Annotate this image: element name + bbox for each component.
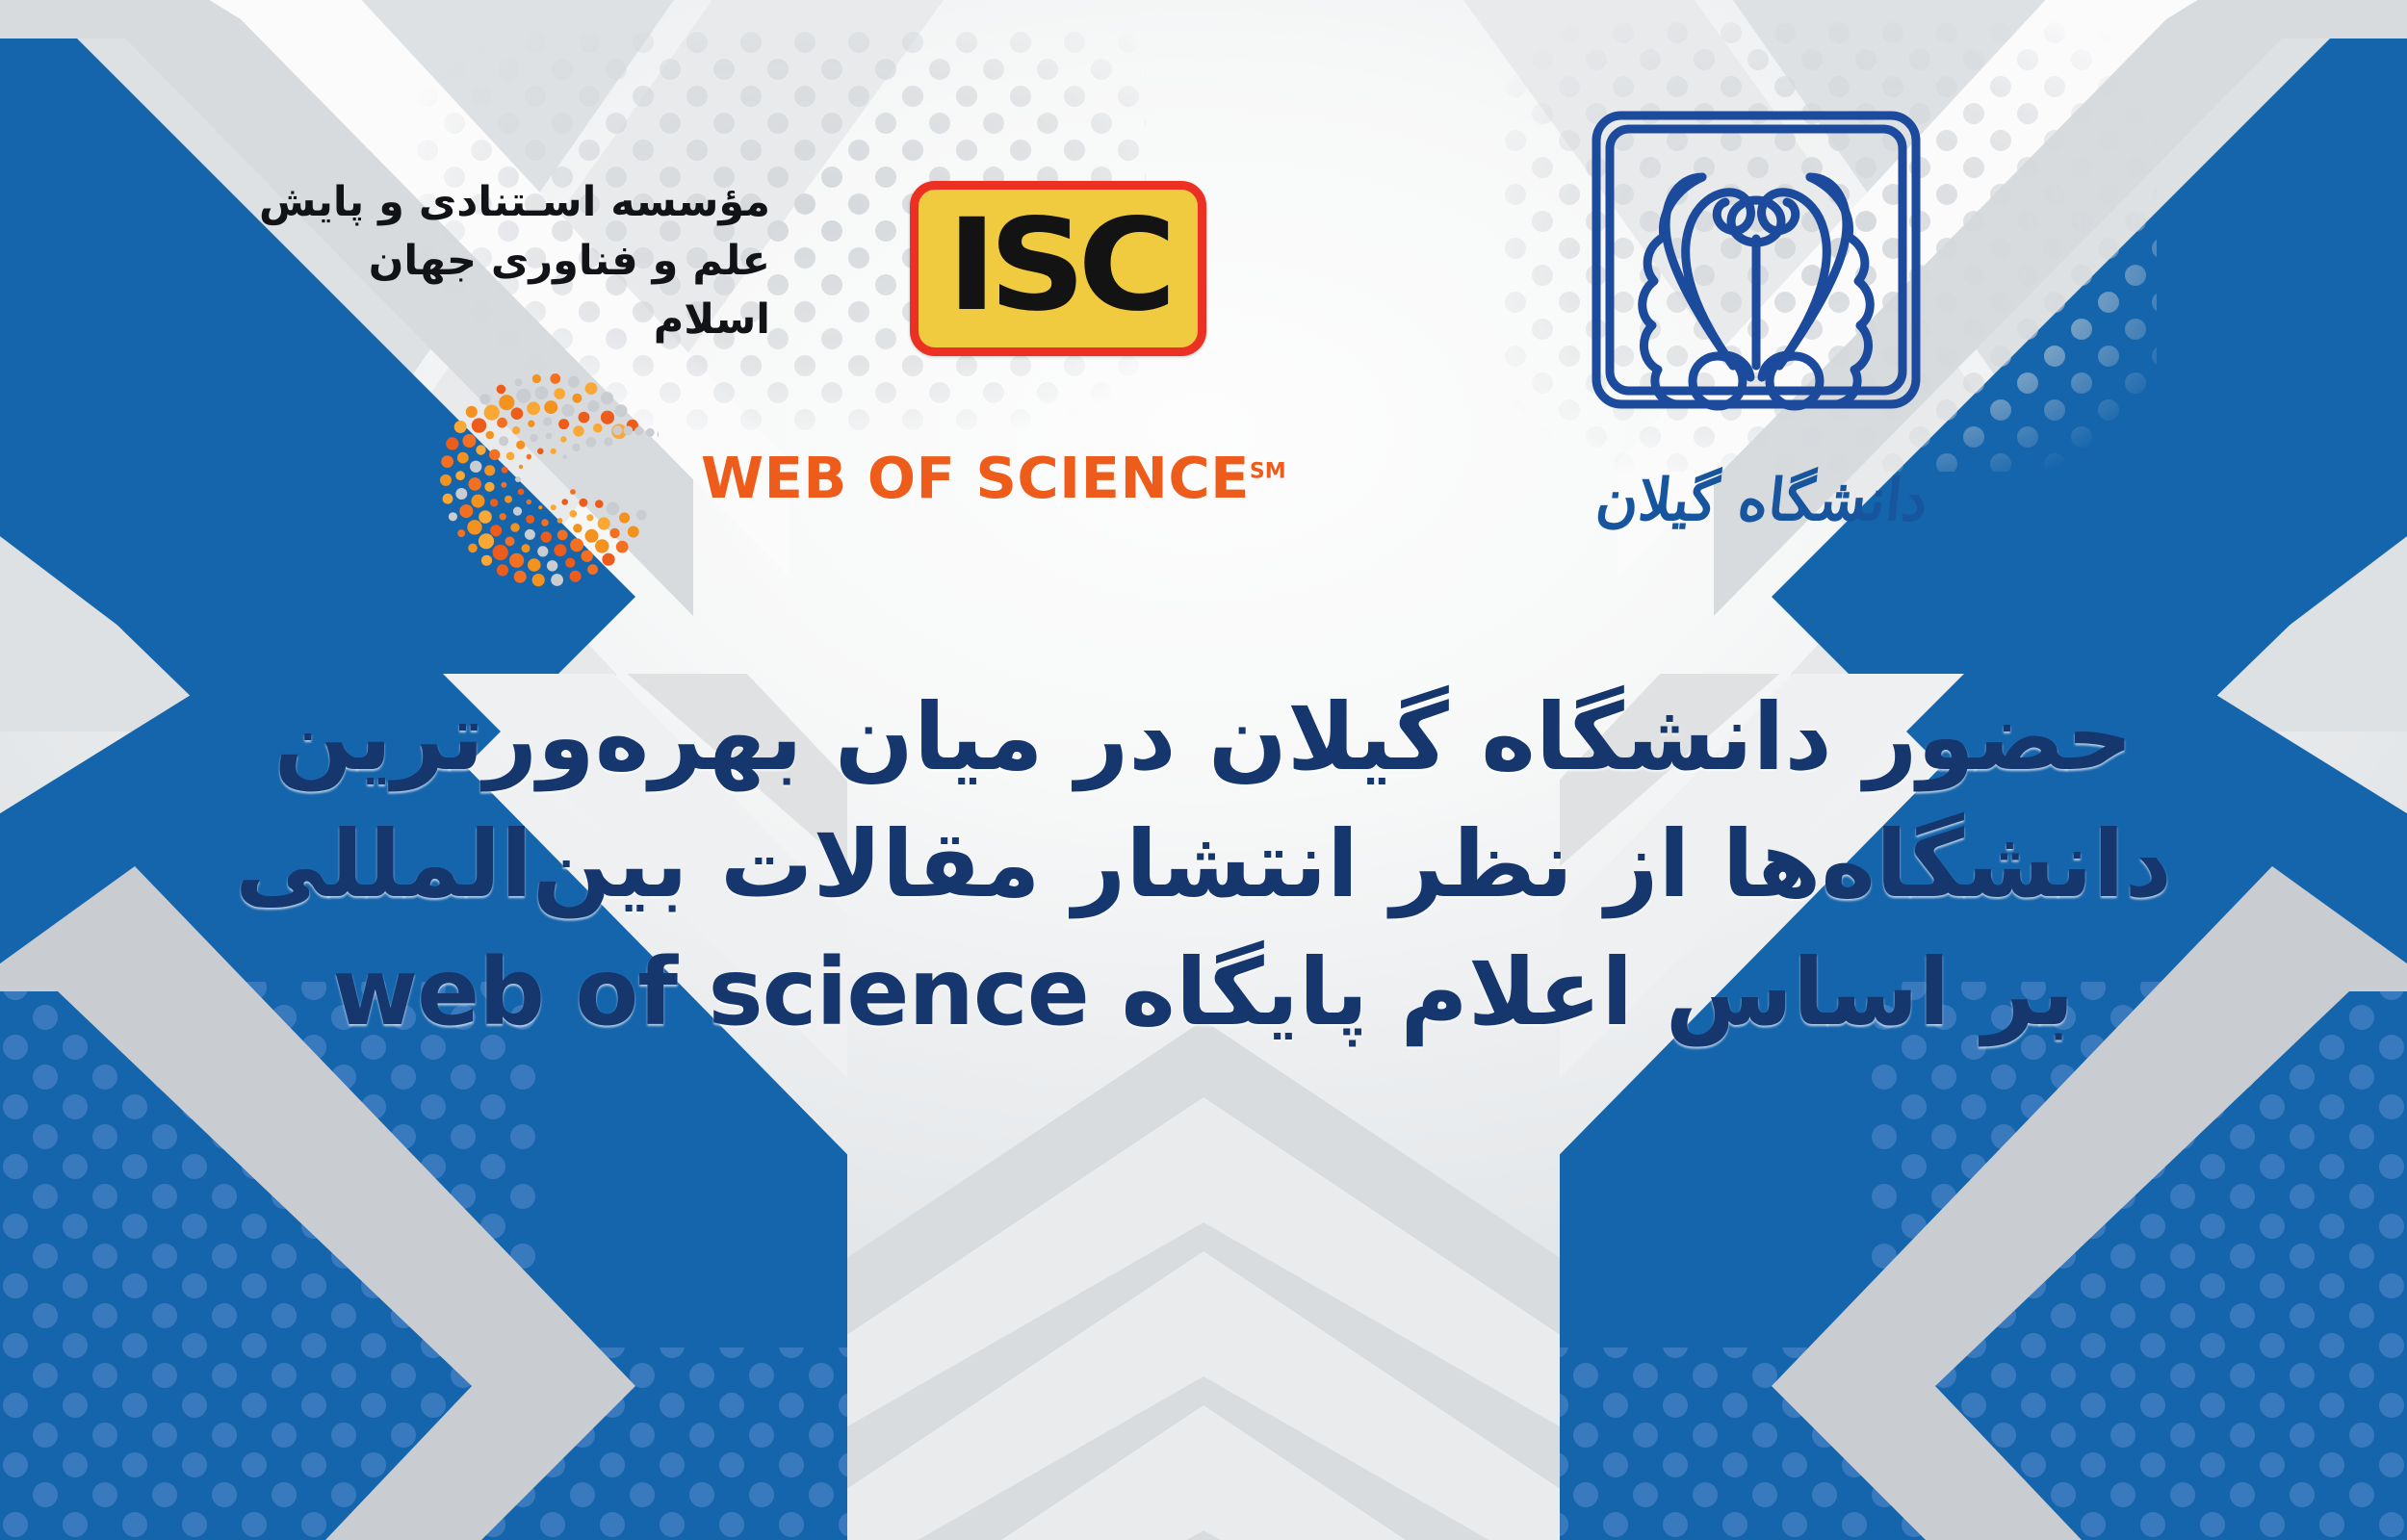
- gilan-university-emblem-icon: [1564, 77, 1949, 419]
- isc-wordmark: مؤسسه اسـتنادی و پایش علم و فناوری جهان …: [250, 173, 770, 349]
- web-of-science-label: WEB OF SCIENCE: [701, 445, 1250, 511]
- isc-wordmark-line-1: مؤسسه اسـتنادی و پایش: [250, 173, 770, 232]
- isc-logo-text: ISC: [947, 202, 1169, 329]
- web-of-science-servicemark: SM: [1250, 459, 1286, 483]
- content-layer: مؤسسه اسـتنادی و پایش علم و فناوری جهان …: [0, 0, 2407, 1540]
- web-of-science-wordmark: WEB OF SCIENCESM: [701, 445, 1286, 511]
- gilan-university-name: دانشگاه گیلان: [1546, 467, 1977, 534]
- isc-wordmark-line-2: علم و فناوری جهان اسلام: [250, 232, 770, 349]
- web-of-science-spiral-icon: [435, 368, 659, 591]
- headline-line-3: بر اساس اعلام پایگاه web of science: [0, 929, 2407, 1056]
- headline-line-1: حضور دانشگاه گیلان در میان بهره‌ورترین: [0, 674, 2407, 801]
- headline-line-2: دانشگاه‌ها از نظر انتشار مقالات بین‌المل…: [0, 801, 2407, 928]
- isc-logo-badge: ISC: [910, 181, 1206, 356]
- poster-canvas: مؤسسه اسـتنادی و پایش علم و فناوری جهان …: [0, 0, 2407, 1540]
- headline-block: حضور دانشگاه گیلان در میان بهره‌ورترین د…: [0, 674, 2407, 1056]
